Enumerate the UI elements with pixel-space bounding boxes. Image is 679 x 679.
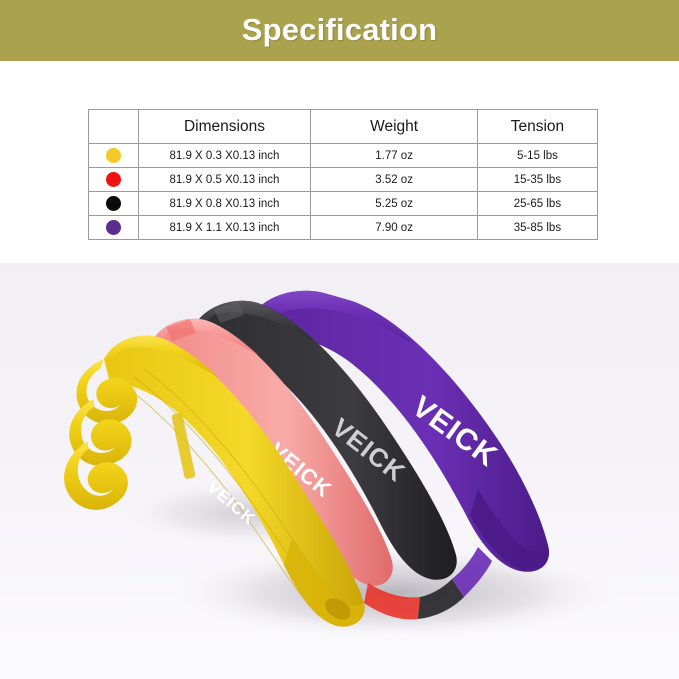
row-color-cell — [89, 144, 139, 168]
row-dimensions: 81.9 X 0.3 X0.13 inch — [138, 144, 311, 168]
table-row: 81.9 X 0.3 X0.13 inch 1.77 oz 5-15 lbs — [89, 144, 598, 168]
row-weight: 1.77 oz — [311, 144, 477, 168]
row-color-cell — [89, 216, 139, 240]
row-tension: 15-35 lbs — [477, 168, 597, 192]
purple-swatch-icon — [106, 220, 121, 235]
product-photo-inner: VEICK VEICK VEICK — [0, 263, 679, 679]
yellow-swatch-icon — [106, 148, 121, 163]
resistance-bands-illustration: VEICK VEICK VEICK — [0, 263, 679, 679]
column-header-tension: Tension — [477, 110, 597, 144]
row-tension: 35-85 lbs — [477, 216, 597, 240]
specification-table: Dimensions Weight Tension 81.9 X 0.3 X0.… — [88, 109, 598, 240]
row-tension: 5-15 lbs — [477, 144, 597, 168]
column-header-weight: Weight — [311, 110, 477, 144]
specification-header-banner: Specification — [0, 0, 679, 61]
row-weight: 7.90 oz — [311, 216, 477, 240]
row-weight: 3.52 oz — [311, 168, 477, 192]
table-row: 81.9 X 0.5 X0.13 inch 3.52 oz 15-35 lbs — [89, 168, 598, 192]
table-row: 81.9 X 0.8 X0.13 inch 5.25 oz 25-65 lbs — [89, 192, 598, 216]
row-weight: 5.25 oz — [311, 192, 477, 216]
table-body: 81.9 X 0.3 X0.13 inch 1.77 oz 5-15 lbs 8… — [89, 144, 598, 240]
row-tension: 25-65 lbs — [477, 192, 597, 216]
product-shadow — [165, 545, 625, 641]
column-header-color — [89, 110, 139, 144]
row-color-cell — [89, 168, 139, 192]
table-row: 81.9 X 1.1 X0.13 inch 7.90 oz 35-85 lbs — [89, 216, 598, 240]
row-dimensions: 81.9 X 0.5 X0.13 inch — [138, 168, 311, 192]
page-title: Specification — [242, 14, 438, 47]
specification-table-region: Dimensions Weight Tension 81.9 X 0.3 X0.… — [0, 61, 679, 263]
black-swatch-icon — [106, 196, 121, 211]
table-header-row: Dimensions Weight Tension — [89, 110, 598, 144]
row-dimensions: 81.9 X 1.1 X0.13 inch — [138, 216, 311, 240]
product-photo: VEICK VEICK VEICK — [0, 263, 679, 679]
red-swatch-icon — [106, 172, 121, 187]
row-dimensions: 81.9 X 0.8 X0.13 inch — [138, 192, 311, 216]
row-color-cell — [89, 192, 139, 216]
column-header-dimensions: Dimensions — [138, 110, 311, 144]
